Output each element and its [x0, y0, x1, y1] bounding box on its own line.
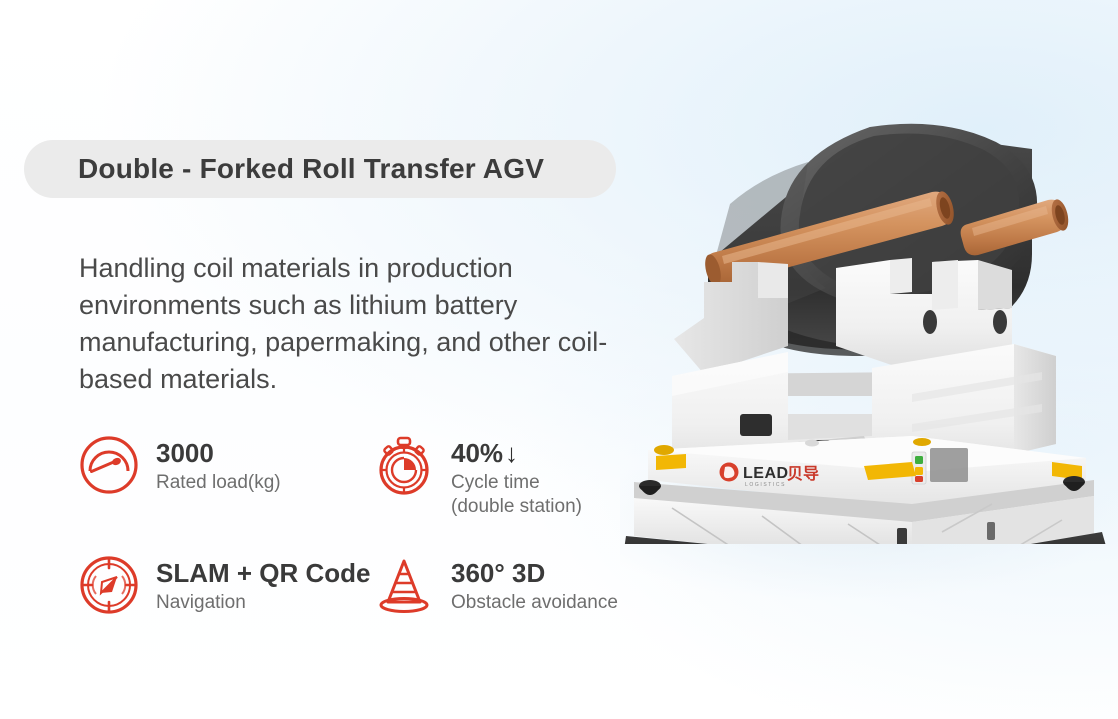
spec-value-number: 40% — [451, 438, 503, 468]
spec-text-navigation: SLAM + QR Code Navigation — [156, 552, 371, 615]
spec-label: Navigation — [156, 591, 371, 615]
spec-value: 360° 3D — [451, 558, 618, 588]
spec-value-number: 360° 3D — [451, 558, 545, 588]
spec-item-navigation: SLAM + QR Code Navigation — [78, 552, 373, 616]
compass-icon — [78, 554, 140, 616]
spec-label: Cycle time — [451, 471, 582, 495]
arrow-down-icon: ↓ — [505, 440, 518, 466]
hero-title-pill: Double - Forked Roll Transfer AGV — [24, 140, 616, 198]
gauge-icon — [78, 434, 140, 496]
stopwatch-icon — [373, 434, 435, 496]
spec-item-rated-load: 3000 Rated load(kg) — [78, 432, 373, 552]
hero-description: Handling coil materials in production en… — [79, 250, 639, 398]
spec-value-number: SLAM + QR Code — [156, 558, 371, 588]
spec-item-obstacle-avoidance: 360° 3D Obstacle avoidance — [373, 552, 668, 616]
spec-text-rated-load: 3000 Rated load(kg) — [156, 432, 281, 495]
spec-item-cycle-time: 40% ↓ Cycle time (double station) — [373, 432, 668, 552]
traffic-cone-icon — [373, 554, 435, 616]
spec-value-number: 3000 — [156, 438, 214, 468]
svg-text:LOGISTICS: LOGISTICS — [745, 482, 786, 488]
svg-text:LEAD: LEAD — [743, 465, 789, 482]
spec-list: 3000 Rated load(kg) — [78, 432, 658, 616]
spec-label: Obstacle avoidance — [451, 591, 618, 615]
product-image-agv: LEAD 贝导 LOGISTICS — [612, 84, 1118, 544]
spec-label: Rated load(kg) — [156, 471, 281, 495]
hero-banner: LEAD 贝导 LOGISTICS — [0, 0, 1118, 719]
status-indicator — [912, 448, 968, 484]
spec-value: SLAM + QR Code — [156, 558, 371, 588]
spec-label-secondary: (double station) — [451, 495, 582, 519]
spec-text-cycle-time: 40% ↓ Cycle time (double station) — [451, 432, 582, 519]
spec-text-obstacle-avoidance: 360° 3D Obstacle avoidance — [451, 552, 618, 615]
spec-value: 3000 — [156, 438, 281, 468]
svg-text:贝导: 贝导 — [787, 464, 819, 483]
spec-value: 40% ↓ — [451, 438, 582, 468]
page-title: Double - Forked Roll Transfer AGV — [78, 153, 544, 185]
